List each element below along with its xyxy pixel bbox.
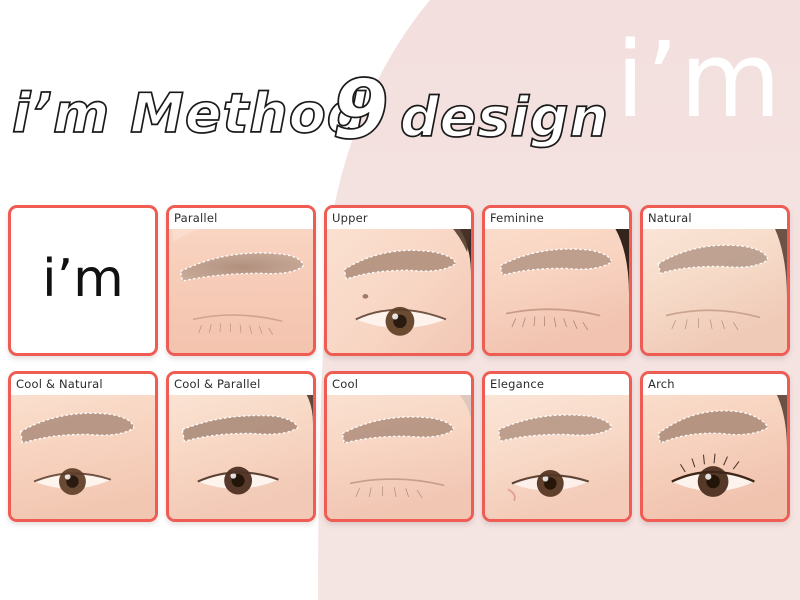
watermark-logo: i’m: [616, 28, 782, 132]
card-cool-parallel[interactable]: Cool & Parallel: [166, 371, 316, 522]
card-label-cool: Cool: [327, 374, 471, 395]
brow-photo-cool-natural: [11, 374, 155, 519]
card-cool[interactable]: Cool: [324, 371, 474, 522]
card-feminine[interactable]: Feminine: [482, 205, 632, 356]
design-card-grid: i’m: [8, 205, 794, 522]
brow-photo-arch: [643, 374, 787, 519]
brow-photo-feminine: [485, 208, 629, 353]
brow-photo-elegance: [485, 374, 629, 519]
card-label-feminine: Feminine: [485, 208, 629, 229]
brow-photo-cool: [327, 374, 471, 519]
brand-logo-text: i’m: [42, 253, 124, 305]
brow-photo-upper: [327, 208, 471, 353]
card-label-elegance: Elegance: [485, 374, 629, 395]
brow-photo-parallel: [169, 208, 313, 353]
svg-text:i’m Method: i’m Method: [12, 82, 367, 145]
svg-text:9: 9: [332, 63, 389, 158]
card-label-parallel: Parallel: [169, 208, 313, 229]
card-label-cool-parallel: Cool & Parallel: [169, 374, 313, 395]
card-natural[interactable]: Natural: [640, 205, 790, 356]
card-label-natural: Natural: [643, 208, 787, 229]
svg-text:design: design: [400, 86, 609, 149]
card-upper[interactable]: Upper: [324, 205, 474, 356]
brow-photo-cool-parallel: [169, 374, 313, 519]
brow-photo-natural: [643, 208, 787, 353]
card-cool-natural[interactable]: Cool & Natural: [8, 371, 158, 522]
card-arch[interactable]: Arch: [640, 371, 790, 522]
card-label-arch: Arch: [643, 374, 787, 395]
card-parallel[interactable]: Parallel: [166, 205, 316, 356]
page-title: i’m Method 9 design: [12, 62, 632, 157]
poster-root: i’m i’m Method 9 design i’m: [0, 0, 800, 600]
card-label-cool-natural: Cool & Natural: [11, 374, 155, 395]
card-logo[interactable]: i’m: [8, 205, 158, 356]
card-label-upper: Upper: [327, 208, 471, 229]
card-elegance[interactable]: Elegance: [482, 371, 632, 522]
